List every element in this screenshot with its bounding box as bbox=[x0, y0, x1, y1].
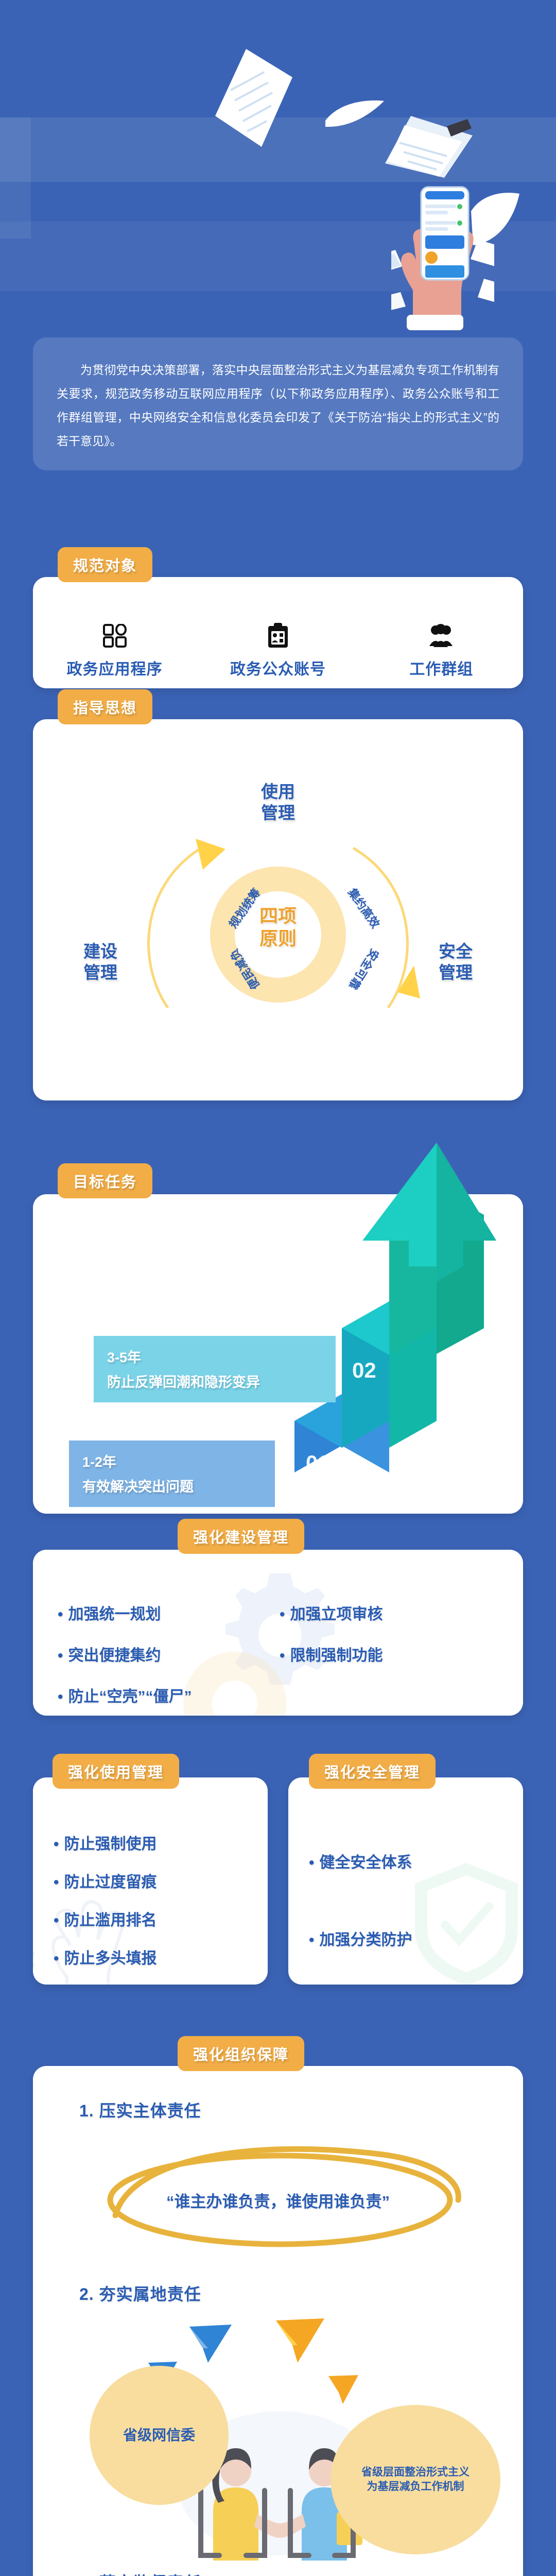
goal-step-2-period: 3-5年 bbox=[107, 1346, 322, 1366]
tag-objects: 规范对象 bbox=[58, 547, 152, 582]
section-card-goals: 3-5年 防止反弹回潮和隐形变异 02 1-2年 有效解决突出问题 01 bbox=[33, 1194, 523, 1514]
intro-text: 为贯彻党中央决策部署，落实中央层面整治形式主义为基层减负专项工作机制有关要求，规… bbox=[57, 358, 499, 453]
section-card-usage: 防止强制使用 防止过度留痕 防止滥用排名 防止多头填报 bbox=[33, 1777, 268, 1985]
objects-row: 政务应用程序 政务公众账号 bbox=[33, 622, 523, 679]
section-card-construction: 加强统一规划 加强立项审核 突出便捷集约 限制强制功能 防止“空壳”“僵尸” bbox=[33, 1550, 523, 1716]
clipboard-account-icon bbox=[267, 622, 289, 649]
bullet-item: 健全安全体系 bbox=[309, 1850, 412, 1872]
quadrant-usage-line1: 使用 bbox=[261, 781, 295, 802]
paper-plane-small-orange-icon bbox=[327, 2374, 359, 2405]
quadrant-construction-line1: 建设 bbox=[83, 941, 117, 962]
object-item-accounts: 政务公众账号 bbox=[197, 622, 359, 679]
tag-goals: 目标任务 bbox=[58, 1163, 152, 1198]
bullet-item: 防止强制使用 bbox=[54, 1831, 157, 1854]
object-item-groups: 工作群组 bbox=[360, 622, 522, 679]
goal-step-2-text: 防止反弹回潮和隐形变异 bbox=[107, 1371, 322, 1391]
bullet-item: 限制强制功能 bbox=[280, 1642, 498, 1665]
org-bubble-provincial-mechanism: 省级层面整治形式主义 为基层减负工作机制 bbox=[331, 2405, 500, 2554]
object-label: 工作群组 bbox=[409, 656, 473, 679]
org-heading-3: 3. 落实监督责任 bbox=[79, 2570, 201, 2576]
flying-paper-large-icon bbox=[215, 49, 292, 147]
hand-holding-phone-illustration bbox=[391, 178, 494, 332]
object-label: 政务应用程序 bbox=[67, 656, 163, 679]
quadrant-usage-management: 使用 管理 bbox=[261, 781, 295, 824]
quadrant-construction-line2: 管理 bbox=[83, 962, 117, 983]
org-bubble-right-line2: 为基层减负工作机制 bbox=[361, 2480, 470, 2494]
security-bullets: 健全安全体系 加强分类防护 bbox=[288, 1850, 523, 1950]
bullet-item: 防止“空壳”“僵尸” bbox=[58, 1684, 276, 1706]
bullet-item: 加强立项审核 bbox=[280, 1601, 498, 1624]
four-principles-center: 四项 原则 bbox=[259, 905, 297, 950]
bullet-item: 防止滥用排名 bbox=[54, 1907, 157, 1930]
four-principles-diagram: 四项 原则 规划统筹 集约高效 便民减负 安全可靠 使用 管理 建设 管理 安全… bbox=[33, 719, 523, 1100]
bullet-item: 防止过度留痕 bbox=[54, 1869, 157, 1892]
apps-grid-icon bbox=[103, 622, 127, 649]
tag-usage: 强化使用管理 bbox=[53, 1754, 179, 1789]
quadrant-construction-management: 建设 管理 bbox=[83, 941, 117, 984]
quadrant-security-line1: 安全 bbox=[439, 941, 473, 962]
bullet-item: 加强统一规划 bbox=[58, 1601, 276, 1624]
infographic-page: 为贯彻党中央决策部署，落实中央层面整治形式主义为基层减负专项工作机制有关要求，规… bbox=[0, 0, 556, 2576]
tag-organization: 强化组织保障 bbox=[178, 2036, 304, 2071]
flying-paper-pen-icon bbox=[385, 116, 473, 188]
goal-step-1: 1-2年 有效解决突出问题 bbox=[69, 1440, 275, 1507]
user-group-icon bbox=[429, 622, 454, 649]
org-heading-2: 2. 夯实属地责任 bbox=[79, 2281, 201, 2305]
org-heading-1: 1. 压实主体责任 bbox=[79, 2098, 201, 2122]
bullet-item: 防止多头填报 bbox=[54, 1945, 157, 1968]
tag-construction: 强化建设管理 bbox=[178, 1519, 304, 1554]
section-card-organization: 1. 压实主体责任 “谁主办谁负责，谁使用谁负责” 2. 夯实属地责任 bbox=[33, 2066, 523, 2576]
section-card-security: 健全安全体系 加强分类防护 bbox=[288, 1777, 523, 1985]
hero-banner bbox=[0, 0, 556, 340]
goal-step-1-number: 01 bbox=[306, 1451, 330, 1476]
center-line-2: 原则 bbox=[259, 927, 297, 950]
quadrant-usage-line2: 管理 bbox=[261, 802, 295, 823]
object-label: 政务公众账号 bbox=[230, 656, 326, 679]
quadrant-security-line2: 管理 bbox=[439, 962, 473, 983]
bullet-item: 突出便捷集约 bbox=[58, 1642, 276, 1665]
section-card-guiding: 四项 原则 规划统筹 集约高效 便民减负 安全可靠 使用 管理 建设 管理 安全… bbox=[33, 719, 523, 1100]
goal-step-1-text: 有效解决突出问题 bbox=[82, 1476, 262, 1496]
section-card-objects: 政务应用程序 政务公众账号 bbox=[33, 577, 523, 688]
object-item-apps: 政务应用程序 bbox=[34, 622, 196, 679]
bullet-item: 加强分类防护 bbox=[309, 1927, 412, 1950]
tag-security: 强化安全管理 bbox=[309, 1754, 436, 1789]
construction-bullets: 加强统一规划 加强立项审核 突出便捷集约 限制强制功能 防止“空壳”“僵尸” bbox=[33, 1601, 523, 1706]
org-bubble-right-label: 省级层面整治形式主义 为基层减负工作机制 bbox=[361, 2465, 470, 2495]
goal-step-1-period: 1-2年 bbox=[82, 1451, 262, 1471]
org-bubble-provincial-committee: 省级网信委 bbox=[90, 2366, 229, 2505]
intro-paragraph-box: 为贯彻党中央决策部署，落实中央层面整治形式主义为基层减负专项工作机制有关要求，规… bbox=[33, 337, 523, 470]
quadrant-security-management: 安全 管理 bbox=[439, 941, 473, 984]
hero-band-left bbox=[0, 117, 31, 239]
goal-step-2-number: 02 bbox=[352, 1358, 376, 1383]
org-slogan: “谁主办谁负责，谁使用谁负责” bbox=[166, 2189, 390, 2212]
paper-plane-orange-icon bbox=[275, 2318, 326, 2365]
flying-paper-curl-icon bbox=[323, 98, 385, 130]
goals-stairs-chart: 3-5年 防止反弹回潮和隐形变异 02 1-2年 有效解决突出问题 01 bbox=[33, 1194, 523, 1514]
paper-plane-blue-icon bbox=[187, 2324, 234, 2365]
tag-guiding: 指导思想 bbox=[58, 689, 152, 724]
org-bubble-left-label: 省级网信委 bbox=[123, 2426, 195, 2445]
center-line-1: 四项 bbox=[259, 905, 297, 927]
org-bubble-right-line1: 省级层面整治形式主义 bbox=[361, 2465, 470, 2480]
goal-step-2: 3-5年 防止反弹回潮和隐形变异 bbox=[94, 1336, 336, 1402]
usage-bullets: 防止强制使用 防止过度留痕 防止滥用排名 防止多头填报 bbox=[33, 1831, 268, 1968]
